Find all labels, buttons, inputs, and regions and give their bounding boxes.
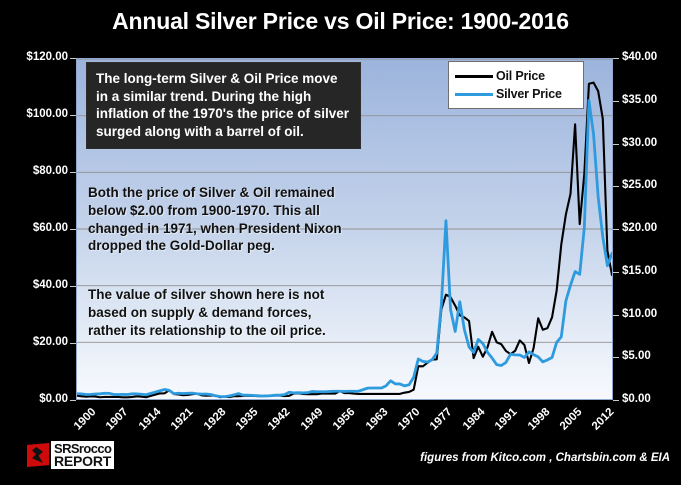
right-axis-tick-label: $40.00 <box>622 51 657 63</box>
right-axis-tick-label: $5.00 <box>622 350 651 362</box>
legend-label-oil: Oil Price <box>496 69 545 83</box>
left-axis-tick <box>70 229 76 230</box>
right-axis-tick <box>613 144 619 145</box>
left-axis-tick-label: $0.00 <box>0 393 68 405</box>
legend-swatch-silver-icon <box>455 93 493 96</box>
right-axis-tick <box>613 400 619 401</box>
right-axis-tick-label: $20.00 <box>622 222 657 234</box>
right-axis-tick-label: $0.00 <box>622 393 651 405</box>
right-axis-tick <box>613 315 619 316</box>
legend-label-silver: Silver Price <box>496 87 562 101</box>
annotation-text-tertiary: The value of silver shown here is not ba… <box>88 286 388 339</box>
right-axis-tick <box>613 58 619 59</box>
legend-swatch-oil-icon <box>455 75 493 78</box>
left-axis-tick <box>70 400 76 401</box>
left-axis-tick-label: $120.00 <box>0 51 68 63</box>
legend-item-silver[interactable]: Silver Price <box>455 85 577 103</box>
right-axis-tick <box>613 101 619 102</box>
source-credit: figures from Kitco.com , Chartsbin.com &… <box>420 452 670 464</box>
right-axis-tick <box>613 357 619 358</box>
left-axis-tick-label: $80.00 <box>0 165 68 177</box>
logo-wordmark: SRSrocco REPORT <box>51 441 114 469</box>
left-axis-tick <box>70 115 76 116</box>
logo-line-2: REPORT <box>54 454 111 468</box>
right-axis-tick-label: $25.00 <box>622 179 657 191</box>
annotation-box-primary: The long-term Silver & Oil Price move in… <box>86 62 361 149</box>
annotation-text-secondary: Both the price of Silver & Oil remained … <box>88 184 388 255</box>
left-axis-tick <box>70 58 76 59</box>
right-axis-tick <box>613 186 619 187</box>
left-axis-tick-label: $20.00 <box>0 336 68 348</box>
right-axis-tick-label: $35.00 <box>622 94 657 106</box>
left-axis-tick-label: $100.00 <box>0 108 68 120</box>
left-axis-tick-label: $40.00 <box>0 279 68 291</box>
chart-root: Annual Silver Price vs Oil Price: 1900-2… <box>0 0 681 474</box>
right-axis-tick <box>613 229 619 230</box>
page-title: Annual Silver Price vs Oil Price: 1900-2… <box>0 8 681 35</box>
legend-item-oil[interactable]: Oil Price <box>455 67 577 85</box>
right-axis-tick-label: $15.00 <box>622 265 657 277</box>
right-axis-tick <box>613 272 619 273</box>
right-axis-tick-label: $30.00 <box>622 137 657 149</box>
srsrocco-logo: SRSrocco REPORT <box>27 441 114 469</box>
right-axis-tick-label: $10.00 <box>622 308 657 320</box>
legend: Oil Price Silver Price <box>448 61 584 109</box>
left-axis-tick <box>70 286 76 287</box>
logo-emblem-icon <box>27 443 49 467</box>
left-axis-tick <box>70 172 76 173</box>
left-axis-tick-label: $60.00 <box>0 222 68 234</box>
left-axis-tick <box>70 343 76 344</box>
